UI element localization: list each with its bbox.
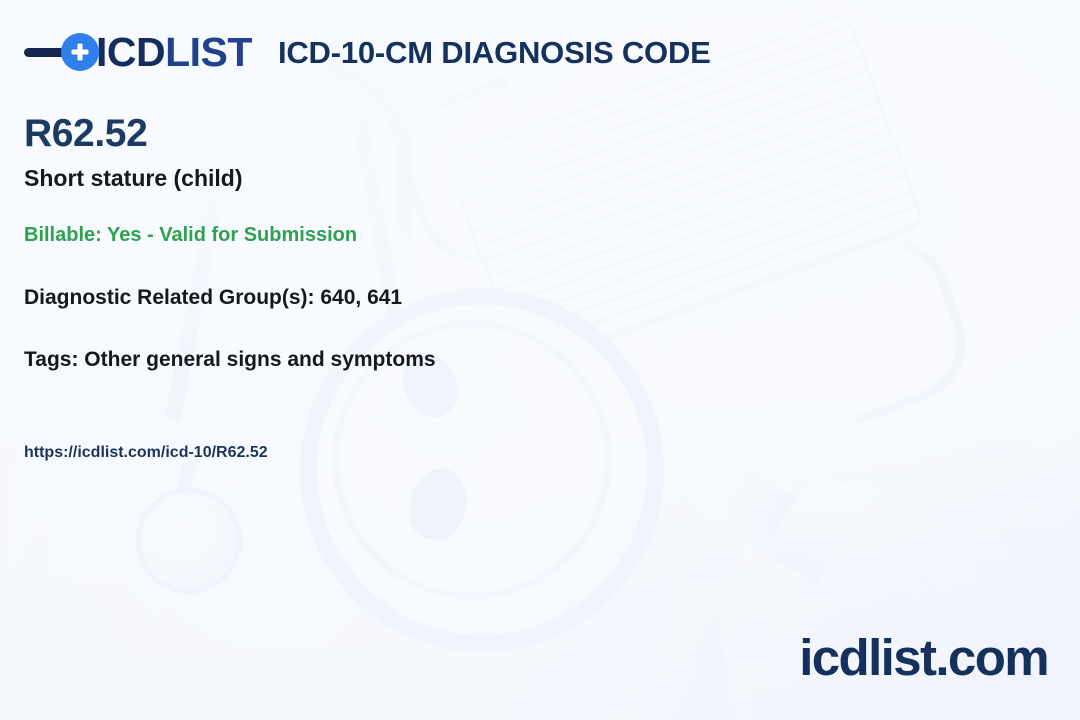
mask-earloop-left-icon xyxy=(383,74,568,278)
logo-text-secondary: LIST xyxy=(165,32,252,73)
billable-status: Billable: Yes - Valid for Submission xyxy=(24,223,357,247)
stethoscope-earpiece-lower xyxy=(402,462,474,545)
dash-icon xyxy=(24,48,66,57)
stethoscope-arch xyxy=(200,60,412,240)
heart-icon xyxy=(680,440,827,587)
footer-brand: icdlist.com xyxy=(799,632,1048,683)
source-url[interactable]: https://icdlist.com/icd-10/R62.52 xyxy=(24,443,268,462)
stethoscope-ring-icon xyxy=(300,288,664,652)
diagnosis-description: Short stature (child) xyxy=(24,165,243,193)
page-title: ICD-10-CM DIAGNOSIS CODE xyxy=(278,37,711,68)
logo-text-primary: ICD xyxy=(96,32,165,73)
diagnosis-code: R62.52 xyxy=(24,113,147,156)
tags-line: Tags: Other general signs and symptoms xyxy=(24,347,436,372)
stethoscope-chestpiece-icon xyxy=(136,488,242,594)
diagnostic-related-groups: Diagnostic Related Group(s): 640, 641 xyxy=(24,285,402,310)
hand-finger-1 xyxy=(814,465,944,607)
icd-code-card: ICD LIST ICD-10-CM DIAGNOSIS CODE R62.52… xyxy=(0,0,1080,720)
icdlist-logo[interactable]: ICD LIST xyxy=(24,28,252,76)
page-header: ICD LIST ICD-10-CM DIAGNOSIS CODE xyxy=(24,28,711,76)
hand-finger-2 xyxy=(869,491,976,625)
mask-earloop-right-icon xyxy=(795,220,983,427)
plus-circle-icon xyxy=(61,33,99,71)
stethoscope-tube-left xyxy=(164,94,243,423)
